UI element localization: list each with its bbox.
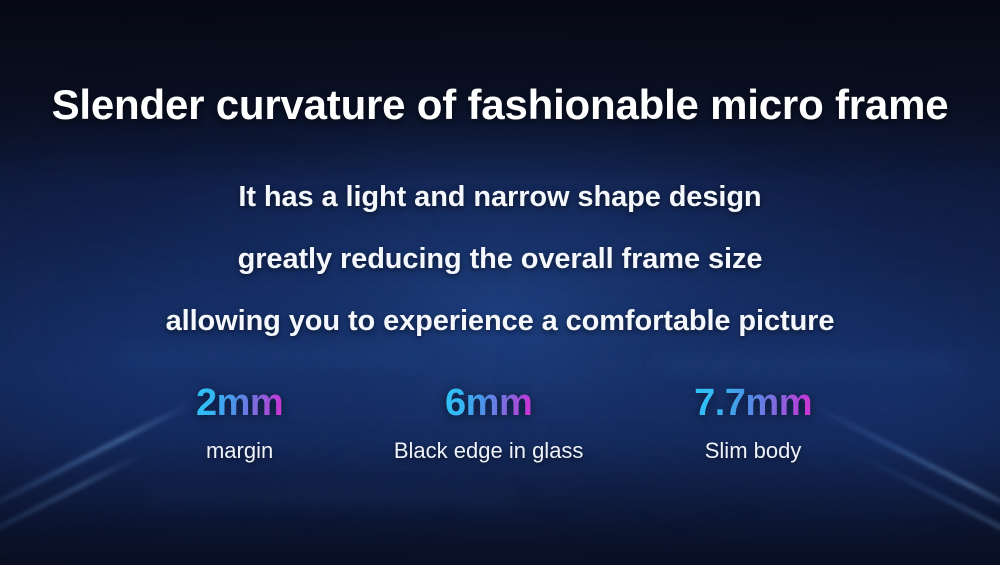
spec-stat-margin: 2mm margin <box>196 382 283 464</box>
banner-content: Slender curvature of fashionable micro f… <box>0 0 1000 565</box>
promo-banner: Slender curvature of fashionable micro f… <box>0 0 1000 565</box>
spec-stat-black-edge: 6mm Black edge in glass <box>394 382 584 464</box>
spec-value-black-edge: 6mm <box>445 382 532 424</box>
spec-value-margin: 2mm <box>196 382 283 424</box>
spec-label-slim-body: Slim body <box>705 438 802 464</box>
banner-subtitle-line-3: allowing you to experience a comfortable… <box>0 290 1000 352</box>
spec-label-margin: margin <box>206 438 273 464</box>
spec-label-black-edge: Black edge in glass <box>394 438 584 464</box>
spec-stat-slim-body: 7.7mm Slim body <box>694 382 812 464</box>
banner-subtitle-block: It has a light and narrow shape design g… <box>0 166 1000 352</box>
spec-stats-row: 2mm margin 6mm Black edge in glass 7.7mm… <box>150 382 850 464</box>
spec-value-slim-body: 7.7mm <box>694 382 812 424</box>
banner-subtitle-line-1: It has a light and narrow shape design <box>0 166 1000 228</box>
banner-subtitle-line-2: greatly reducing the overall frame size <box>0 228 1000 290</box>
banner-headline: Slender curvature of fashionable micro f… <box>0 82 1000 128</box>
